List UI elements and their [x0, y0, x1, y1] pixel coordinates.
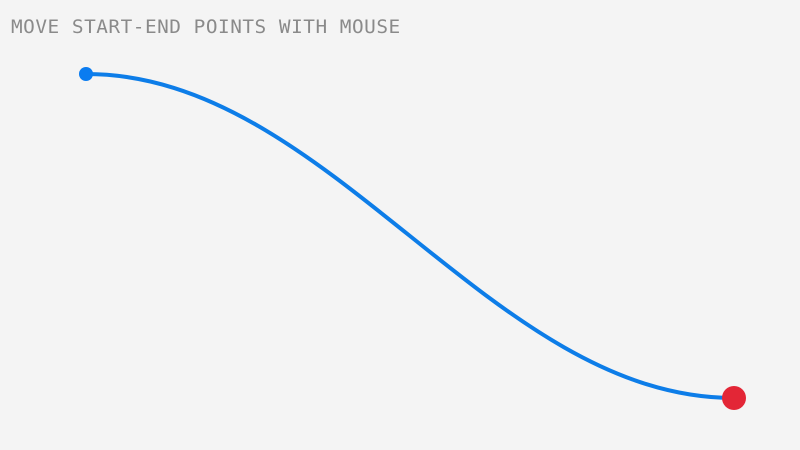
end-point-handle[interactable] [722, 386, 746, 410]
page-title: MOVE START-END POINTS WITH MOUSE [11, 15, 401, 39]
bezier-curve [86, 74, 734, 398]
canvas-app: MOVE START-END POINTS WITH MOUSE [0, 0, 800, 450]
start-point-handle[interactable] [79, 67, 93, 81]
bezier-canvas[interactable] [0, 0, 800, 450]
